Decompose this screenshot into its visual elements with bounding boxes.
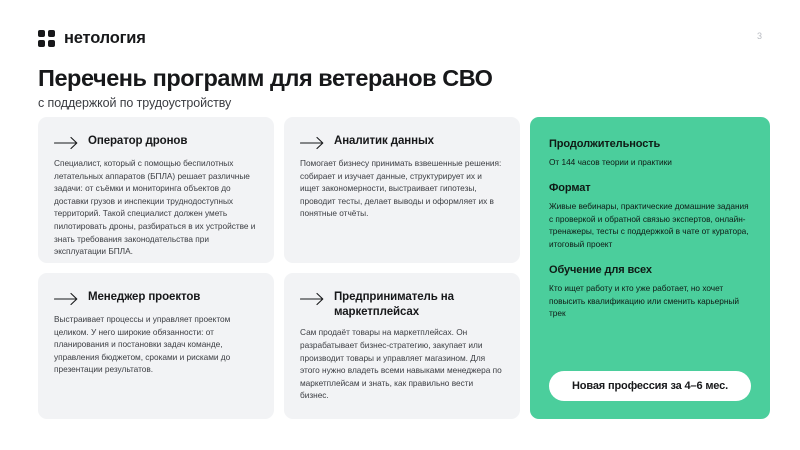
program-card-analitik-dannyh[interactable]: Аналитик данных Помогает бизнесу принима…	[284, 117, 520, 263]
panel-block-format: Формат Живые вебинары, практические дома…	[549, 181, 751, 251]
card-description: Сам продаёт товары на маркетплейсах. Он …	[300, 326, 502, 402]
card-title: Менеджер проектов	[88, 290, 200, 305]
page-title: Перечень программ для ветеранов СВО	[38, 65, 762, 91]
panel-text: Кто ищет работу и кто уже работает, но х…	[549, 282, 751, 320]
new-profession-cta-button[interactable]: Новая профессия за 4–6 мес.	[549, 371, 751, 401]
card-title: Предприниматель на маркетплейсах	[334, 290, 502, 319]
card-header: Менеджер проектов	[54, 290, 256, 306]
card-description: Выстраивает процессы и управляет проекто…	[54, 313, 256, 376]
brand-name: нетология	[64, 30, 146, 47]
panel-text: Живые вебинары, практические домашние за…	[549, 200, 751, 250]
program-card-predprinimatel-na-marketpleysah[interactable]: Предприниматель на маркетплейсах Сам про…	[284, 273, 520, 419]
card-title: Оператор дронов	[88, 134, 187, 149]
page-number: 3	[757, 32, 762, 41]
panel-block-duration: Продолжительность От 144 часов теории и …	[549, 137, 751, 169]
program-card-menedzher-proektov[interactable]: Менеджер проектов Выстраивает процессы и…	[38, 273, 274, 419]
arrow-right-icon	[300, 136, 324, 150]
card-title: Аналитик данных	[334, 134, 434, 149]
slide-content: Оператор дронов Специалист, который с по…	[38, 117, 770, 419]
panel-heading: Обучение для всех	[549, 263, 751, 277]
page-subtitle: с поддержкой по трудоустройству	[38, 96, 762, 111]
arrow-right-icon	[54, 292, 78, 306]
card-header: Предприниматель на маркетплейсах	[300, 290, 502, 319]
panel-heading: Продолжительность	[549, 137, 751, 151]
slide-header: нетология 3 Перечень программ для ветера…	[38, 28, 762, 111]
program-cards-row-top: Оператор дронов Специалист, который с по…	[38, 117, 520, 263]
brand-logo: нетология	[38, 28, 762, 48]
panel-text: От 144 часов теории и практики	[549, 156, 751, 169]
course-info-panel: Продолжительность От 144 часов теории и …	[530, 117, 770, 419]
program-cards-grid: Оператор дронов Специалист, который с по…	[38, 117, 520, 419]
arrow-right-icon	[300, 292, 324, 306]
card-description: Помогает бизнесу принимать взвешенные ре…	[300, 157, 502, 220]
card-header: Аналитик данных	[300, 134, 502, 150]
panel-heading: Формат	[549, 181, 751, 195]
card-header: Оператор дронов	[54, 134, 256, 150]
panel-block-for-everyone: Обучение для всех Кто ищет работу и кто …	[549, 263, 751, 320]
program-cards-row-bottom: Менеджер проектов Выстраивает процессы и…	[38, 273, 520, 419]
slide-root: { "header": { "logo_icon": "four-dots-lo…	[0, 0, 800, 450]
four-dots-logo-icon	[38, 30, 55, 47]
program-card-operator-dronov[interactable]: Оператор дронов Специалист, который с по…	[38, 117, 274, 263]
arrow-right-icon	[54, 136, 78, 150]
card-description: Специалист, который с помощью беспилотны…	[54, 157, 256, 258]
